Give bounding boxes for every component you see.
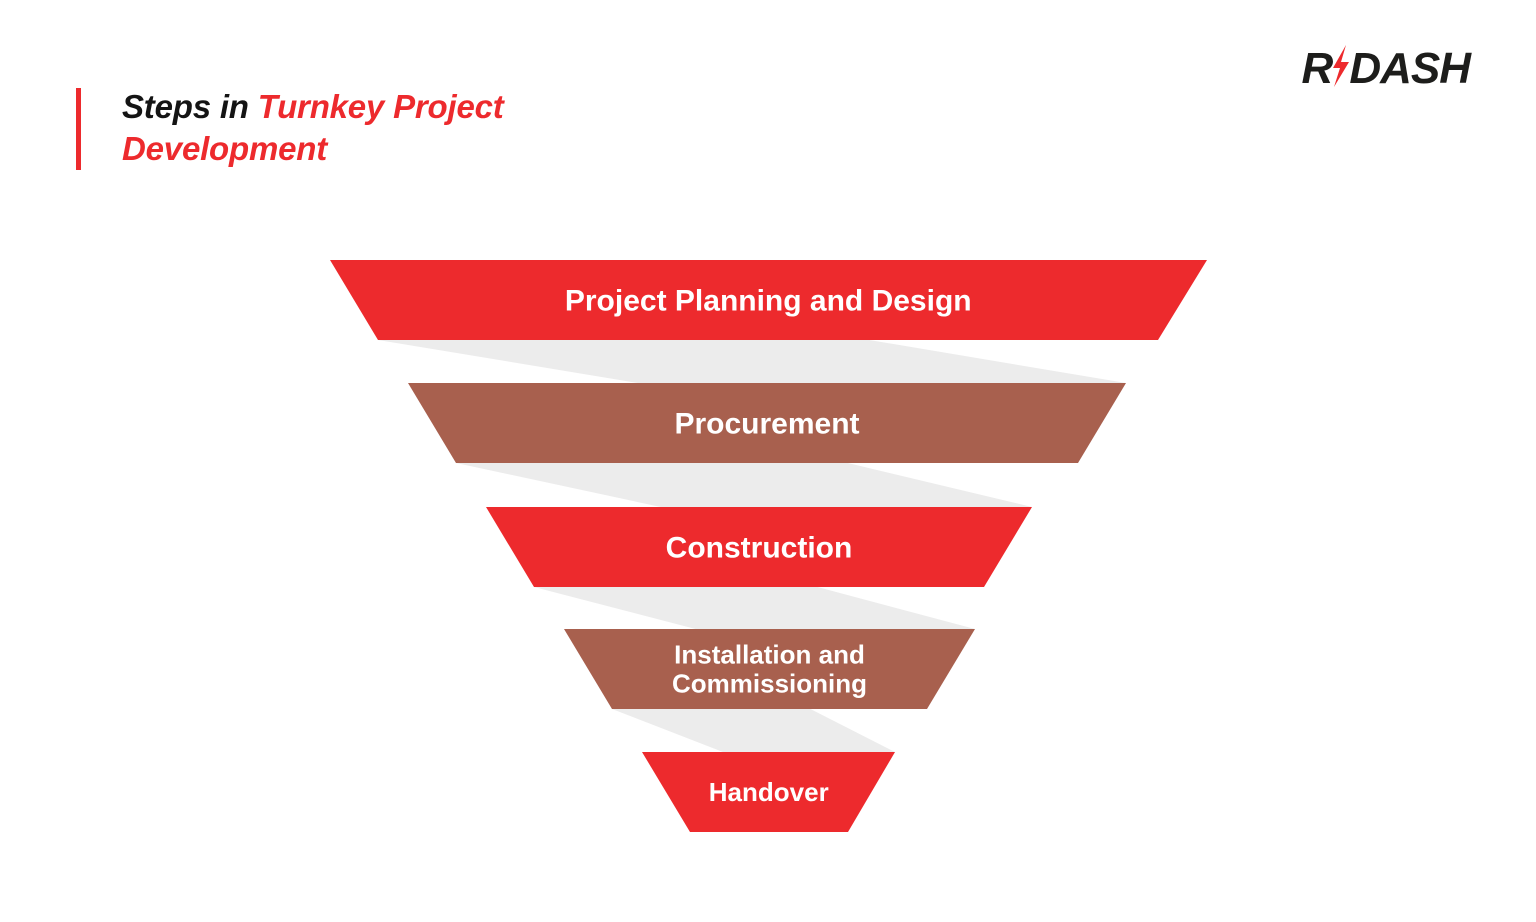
funnel-step-1[interactable]: Project Planning and Design bbox=[330, 260, 1207, 340]
funnel-step-label-3: Construction bbox=[666, 532, 853, 565]
funnel-connector-1 bbox=[378, 340, 1126, 383]
funnel-step-label-line: Commissioning bbox=[672, 669, 867, 699]
funnel-step-2[interactable]: Procurement bbox=[408, 383, 1126, 463]
logo-text-dash: DASH bbox=[1349, 44, 1470, 94]
funnel-step-label-line: Handover bbox=[709, 777, 829, 807]
funnel-connector-2 bbox=[456, 463, 1032, 507]
funnel-connector-3 bbox=[534, 587, 975, 629]
rdash-logo: R DASH bbox=[1302, 44, 1470, 94]
funnel-step-shape-5[interactable] bbox=[642, 752, 895, 832]
lightning-bolt-icon bbox=[1329, 43, 1351, 89]
funnel-step-label-line: Project Planning and Design bbox=[565, 285, 972, 318]
logo-text-r: R bbox=[1302, 44, 1333, 94]
funnel-step-label-5: Handover bbox=[709, 777, 829, 807]
funnel-step-shape-4[interactable] bbox=[564, 629, 975, 709]
funnel-step-label-4: Installation andCommissioning bbox=[672, 640, 867, 699]
page-title-lead: Steps in bbox=[122, 88, 258, 125]
title-accent-bar bbox=[76, 88, 81, 170]
funnel-step-label-line: Procurement bbox=[674, 408, 859, 441]
page-title-block: Steps in Turnkey Project Development bbox=[76, 86, 592, 170]
funnel-step-4[interactable]: Installation andCommissioning bbox=[564, 629, 975, 709]
funnel-step-shape-2[interactable] bbox=[408, 383, 1126, 463]
funnel-step-label-1: Project Planning and Design bbox=[565, 285, 972, 318]
funnel-step-shape-1[interactable] bbox=[330, 260, 1207, 340]
funnel-step-label-line: Construction bbox=[666, 532, 853, 565]
funnel-step-3[interactable]: Construction bbox=[486, 507, 1032, 587]
funnel-connector-4 bbox=[612, 709, 895, 752]
funnel-step-label-2: Procurement bbox=[674, 408, 859, 441]
page-header: Steps in Turnkey Project Development R D… bbox=[0, 0, 1536, 200]
funnel-step-5[interactable]: Handover bbox=[642, 752, 895, 832]
page-title: Steps in Turnkey Project Development bbox=[122, 86, 592, 170]
funnel-step-label-line: Installation and bbox=[674, 640, 865, 670]
funnel-step-shape-3[interactable] bbox=[486, 507, 1032, 587]
